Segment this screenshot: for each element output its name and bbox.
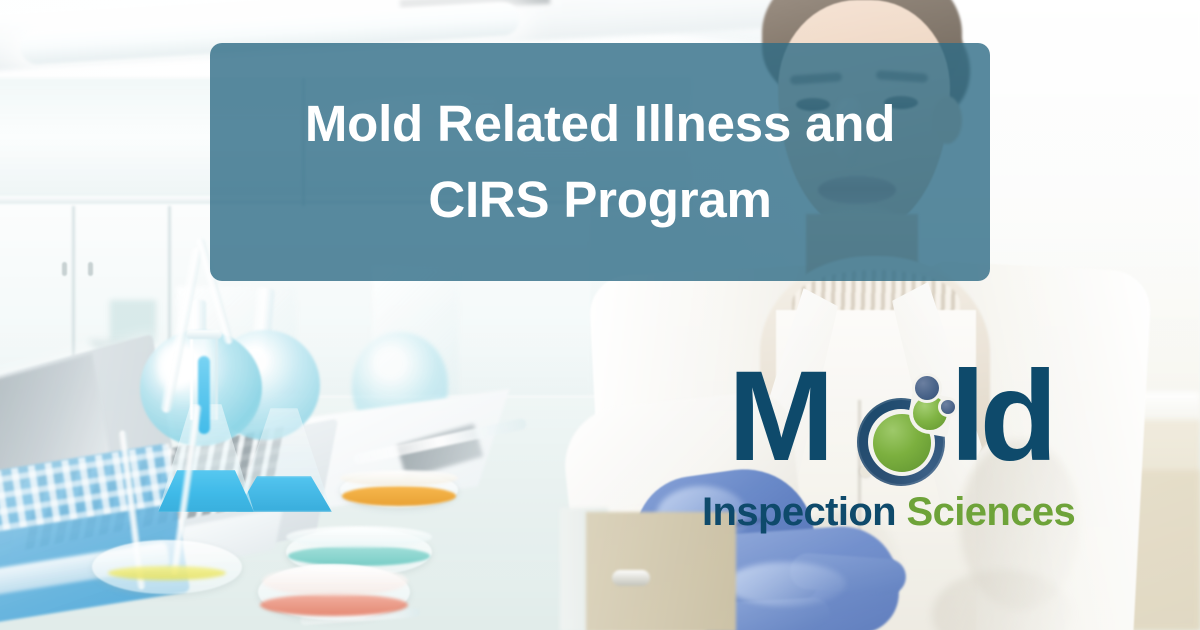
banner-title-line-2: CIRS Program <box>428 165 771 235</box>
logo-letter-m: M <box>728 358 829 476</box>
erlenmeyer-rim <box>186 330 222 339</box>
petri-orange-lid <box>340 470 458 486</box>
petri-teal-medium <box>288 546 430 566</box>
spore-medium-blue <box>915 376 939 400</box>
petri-teal-lid <box>286 526 432 548</box>
petri-orange-medium <box>342 486 456 506</box>
petri-red-lid <box>262 566 408 596</box>
petri-red-medium <box>260 594 408 616</box>
cabinet-handle <box>62 262 67 276</box>
spore-medium-green <box>913 396 947 430</box>
logo-tagline-inspection: Inspection <box>702 490 896 534</box>
mold-spore-icon <box>857 382 961 486</box>
title-overlay-panel: Mold Related Illness and CIRS Program <box>210 43 990 281</box>
blue-liquid-stream <box>198 356 210 434</box>
mold-inspection-sciences-logo: M ld Inspection Sciences <box>728 366 1100 536</box>
cabinet-handle <box>88 262 93 276</box>
logo-tagline: Inspection Sciences <box>702 490 1122 535</box>
logo-letters-ld: ld <box>950 358 1052 476</box>
petri-yellow-medium <box>108 566 226 580</box>
spore-small-blue <box>941 400 955 414</box>
glove-highlight <box>726 562 846 606</box>
desk-drawer-handle <box>612 570 650 586</box>
banner-image: Mold Related Illness and CIRS Program M … <box>0 0 1200 630</box>
banner-title-line-1: Mold Related Illness and <box>305 89 895 159</box>
logo-tagline-sciences: Sciences <box>907 490 1076 534</box>
